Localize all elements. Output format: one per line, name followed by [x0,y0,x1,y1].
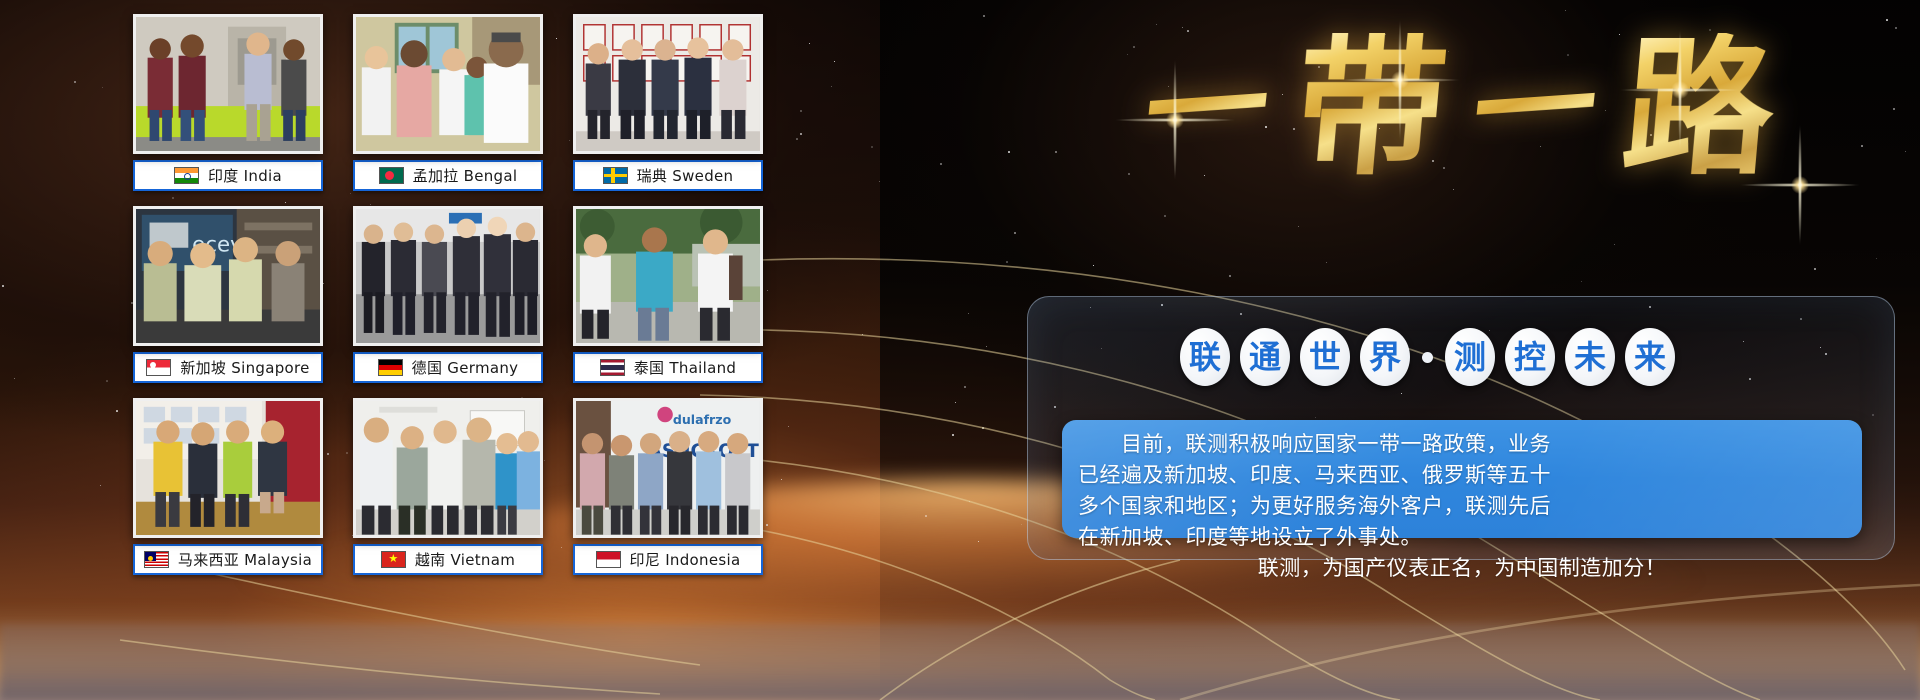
slogan-bubble: 来 [1625,328,1675,386]
slogan-bubble: 测 [1445,328,1495,386]
slogan-separator-dot [1422,352,1433,363]
caption-thailand: 泰国 Thailand [573,352,763,383]
flag-malaysia-icon [144,551,169,568]
caption-singapore: 新加坡 Singapore [133,352,323,383]
caption-label: 孟加拉 Bengal [413,165,518,186]
flag-indonesia-icon [596,551,621,568]
flag-india-icon [174,167,199,184]
photo-thailand [573,206,763,346]
gallery-item-indonesia[interactable]: dulafrzo ASHCROFT 印尼 Indones [573,398,763,575]
photo-germany [353,206,543,346]
banner-stage: 印度 India [0,0,1920,700]
flag-bangladesh-icon [379,167,404,184]
gallery-item-singapore[interactable]: ecev 新加坡 Singapore [133,206,323,383]
photo-sweden [573,14,763,154]
caption-label: 越南 Vietnam [415,549,515,570]
photo-india [133,14,323,154]
about-line-2: 已经遍及新加坡、印度、马来西亚、俄罗斯等五十 [1078,460,1846,491]
caption-label: 印尼 Indonesia [630,549,741,570]
about-line-5: 联测，为国产仪表正名，为中国制造加分！ [1078,553,1846,584]
flag-thailand-icon [600,359,625,376]
photo-vietnam [353,398,543,538]
caption-indonesia: 印尼 Indonesia [573,544,763,575]
about-line-4: 在新加坡、印度等地设立了外事处。 [1078,522,1846,553]
caption-vietnam: 越南 Vietnam [353,544,543,575]
slogan-char: 来 [1634,341,1666,373]
photo-malaysia [133,398,323,538]
calligraphy-char-2: 带 [1289,33,1452,183]
gallery-item-bengal[interactable]: 孟加拉 Bengal [353,14,543,191]
slogan-bubble: 通 [1240,328,1290,386]
caption-label: 印度 India [208,165,282,186]
gallery-item-thailand[interactable]: 泰国 Thailand [573,206,763,383]
gallery-item-sweden[interactable]: 瑞典 Sweden [573,14,763,191]
photo-singapore: ecev [133,206,323,346]
svg-text:dulafrzo: dulafrzo [673,412,732,427]
caption-sweden: 瑞典 Sweden [573,160,763,191]
slogan-bubble: 未 [1565,328,1615,386]
slogan-bubble: 控 [1505,328,1555,386]
flag-vietnam-icon [381,551,406,568]
caption-label: 德国 Germany [412,357,519,378]
caption-label: 马来西亚 Malaysia [178,549,312,570]
photo-bengal [353,14,543,154]
slogan-char: 世 [1309,341,1341,373]
flag-singapore-icon [146,359,171,376]
gallery-item-india[interactable]: 印度 India [133,14,323,191]
caption-label: 泰国 Thailand [634,357,737,378]
slogan-char: 界 [1369,341,1401,373]
caption-india: 印度 India [133,160,323,191]
slogan-bubble: 世 [1300,328,1350,386]
gallery-item-vietnam[interactable]: 越南 Vietnam [353,398,543,575]
caption-germany: 德国 Germany [353,352,543,383]
calligraphy-char-4: 路 [1617,33,1780,183]
about-text-box: 目前，联测积极响应国家一带一路政策，业务 已经遍及新加坡、印度、马来西亚、俄罗斯… [1062,420,1862,538]
about-line-3: 多个国家和地区；为更好服务海外客户，联测先后 [1078,491,1846,522]
caption-label: 瑞典 Sweden [637,165,734,186]
about-line-1: 目前，联测积极响应国家一带一路政策，业务 [1078,429,1846,460]
slogan-char: 未 [1574,341,1606,373]
gallery-item-germany[interactable]: 德国 Germany [353,206,543,383]
slogan-bubble: 联 [1180,328,1230,386]
caption-label: 新加坡 Singapore [180,357,309,378]
slogan-char: 测 [1454,341,1486,373]
slogan-char: 控 [1514,341,1546,373]
slogan-char: 联 [1189,341,1221,373]
company-slogan: 联 通 世 界 测 控 未 来 [1180,328,1675,386]
flag-sweden-icon [603,167,628,184]
caption-malaysia: 马来西亚 Malaysia [133,544,323,575]
calligraphy-char-3: 一 [1467,43,1603,173]
earth-surface [0,624,1920,700]
slogan-bubble: 界 [1360,328,1410,386]
caption-bengal: 孟加拉 Bengal [353,160,543,191]
gallery-item-malaysia[interactable]: 马来西亚 Malaysia [133,398,323,575]
photo-indonesia: dulafrzo ASHCROFT [573,398,763,538]
belt-and-road-headline: 一 带 一 路 [1025,8,1895,208]
flag-germany-icon [378,359,403,376]
calligraphy-char-1: 一 [1139,43,1275,173]
country-photo-gallery: 印度 India [133,14,763,586]
slogan-char: 通 [1249,341,1281,373]
